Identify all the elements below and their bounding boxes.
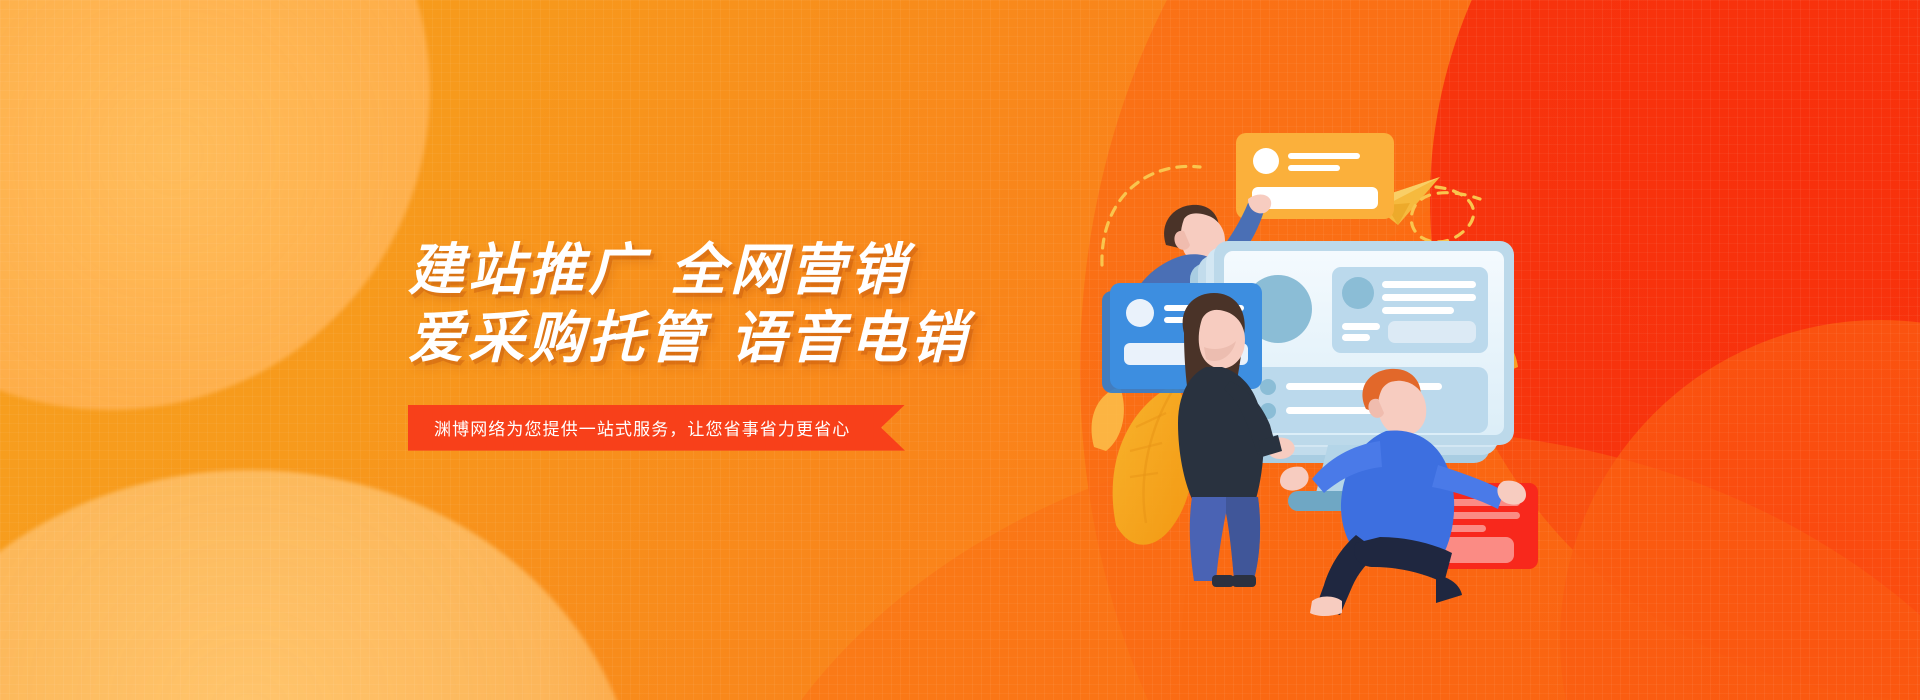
promo-banner: 建站推广全网营销 爱采购托管语音电销 渊博网络为您提供一站式服务，让您省事省力更…	[0, 0, 1920, 700]
headline-line1-part1: 建站推广	[408, 238, 648, 301]
tagline-text: 渊博网络为您提供一站式服务，让您省事省力更省心	[408, 415, 850, 440]
teamwork-dashboard-illustration	[1080, 95, 1580, 595]
bottom-left-glow-blob	[0, 470, 640, 700]
headline-line-1: 建站推广全网营销	[408, 236, 1088, 304]
copy-block: 建站推广全网营销 爱采购托管语音电销 渊博网络为您提供一站式服务，让您省事省力更…	[408, 236, 1088, 451]
headline-line-2: 爱采购托管语音电销	[408, 304, 1088, 372]
screen-card-top	[1332, 267, 1488, 353]
gold-leaf-shape	[1092, 383, 1194, 545]
headline-line2-part1: 爱采购托管	[408, 306, 708, 369]
headline-line2-part2: 语音电销	[730, 306, 970, 369]
tagline-ribbon: 渊博网络为您提供一站式服务，让您省事省力更省心	[408, 405, 905, 451]
headline-line1-part2: 全网营销	[670, 238, 910, 301]
top-left-glow-blob	[0, 0, 430, 410]
